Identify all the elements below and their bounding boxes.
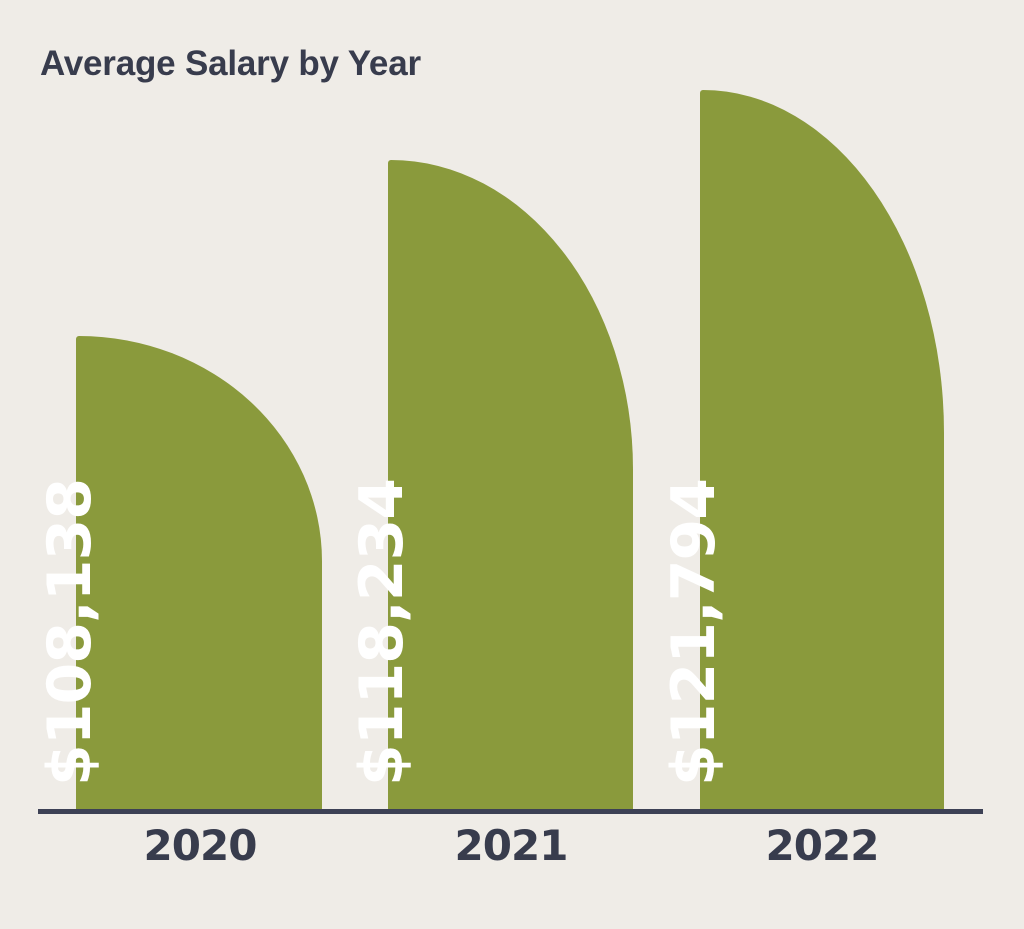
x-axis-line [38,809,983,814]
chart-container: Average Salary by Year $108,138 $118,234… [0,0,1024,929]
x-axis-label-2021: 2021 [381,824,641,868]
bar-shape-2021 [388,160,633,812]
bar-shape-2020 [76,336,322,812]
bar-2022[interactable]: $121,794 [700,90,944,812]
bar-2021[interactable]: $118,234 [388,160,633,812]
x-axis-label-2022: 2022 [692,824,952,868]
bar-shape-2022 [700,90,944,812]
bar-2020[interactable]: $108,138 [76,336,322,812]
x-axis-label-2020: 2020 [70,824,330,868]
plot-area: $108,138 $118,234 $121,794 2020 2021 202… [0,0,1024,929]
